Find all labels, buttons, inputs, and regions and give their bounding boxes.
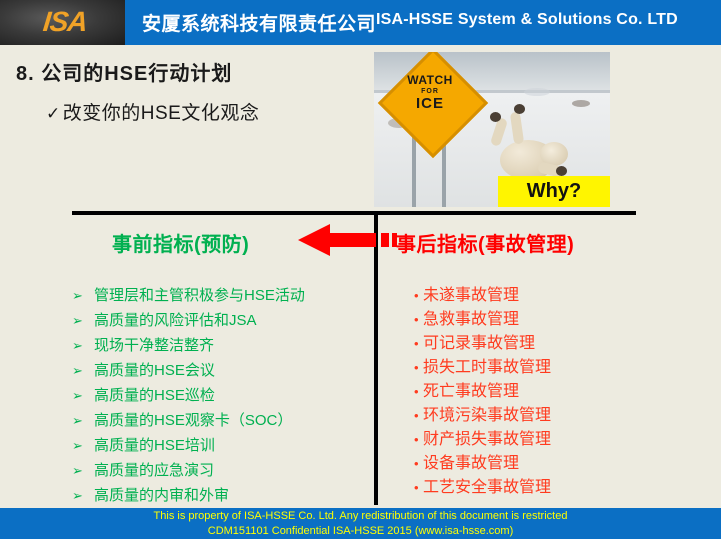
list-item: ➢高质量的HSE巡检 — [72, 385, 372, 406]
list-item: ➢高质量的HSE培训 — [72, 435, 372, 456]
arrow-bullet-icon: ➢ — [72, 335, 94, 356]
bear-paw — [556, 166, 567, 176]
list-item-label: 可记录事故管理 — [423, 333, 535, 355]
arrow-bullet-icon: ➢ — [72, 485, 94, 506]
slide-header-bar: ISA 安厦系统科技有限责任公司 ISA-HSSE System & Solut… — [0, 0, 721, 45]
bear-paw — [490, 112, 501, 122]
list-item: •可记录事故管理 — [414, 333, 694, 355]
arrow-tail-segment — [381, 233, 389, 247]
list-item: ➢高质量的应急演习 — [72, 460, 372, 481]
list-item-label: 损失工时事故管理 — [423, 357, 551, 379]
arrow-bullet-icon: ➢ — [72, 385, 94, 406]
arrow-shaft — [328, 233, 376, 247]
list-item: ➢管理层和主管积极参与HSE活动 — [72, 285, 372, 306]
dot-bullet-icon: • — [414, 429, 423, 451]
list-item-label: 设备事故管理 — [423, 453, 519, 475]
company-name-english: ISA-HSSE System & Solutions Co. LTD — [376, 11, 678, 29]
sign-line-watch: WATCH — [388, 74, 472, 86]
list-item: •急救事故管理 — [414, 309, 694, 331]
sign-label: WATCH FOR ICE — [388, 74, 472, 130]
list-item-label: 现场干净整洁整齐 — [94, 335, 214, 356]
arrow-tail-segment — [392, 233, 397, 247]
footer-copyright-line: This is property of ISA-HSSE Co. Ltd. An… — [0, 510, 721, 522]
list-item: ➢高质量的风险评估和JSA — [72, 310, 372, 331]
list-item-label: 环境污染事故管理 — [423, 405, 551, 427]
list-item-label: 高质量的内审和外审 — [94, 485, 229, 506]
slide-title: 8. 公司的HSE行动计划 — [16, 57, 232, 86]
polar-bear-figure — [482, 124, 568, 182]
dot-bullet-icon: • — [414, 405, 423, 427]
list-item-label: 高质量的风险评估和JSA — [94, 310, 257, 331]
list-item: •设备事故管理 — [414, 453, 694, 475]
list-item-label: 高质量的HSE会议 — [94, 360, 215, 381]
list-item: •损失工时事故管理 — [414, 357, 694, 379]
list-item-label: 死亡事故管理 — [423, 381, 519, 403]
snow-texture — [524, 88, 550, 96]
dot-bullet-icon: • — [414, 357, 423, 379]
dot-bullet-icon: • — [414, 381, 423, 403]
list-item-label: 高质量的HSE观察卡（SOC） — [94, 410, 292, 431]
company-name-chinese: 安厦系统科技有限责任公司 — [142, 9, 376, 36]
slide-canvas: ISA 安厦系统科技有限责任公司 ISA-HSSE System & Solut… — [0, 0, 721, 539]
list-item: •环境污染事故管理 — [414, 405, 694, 427]
polar-bear-ice-photo: WATCH FOR ICE Why? — [374, 52, 610, 207]
horizontal-divider — [72, 211, 636, 215]
arrow-head — [298, 224, 330, 256]
list-item-label: 管理层和主管积极参与HSE活动 — [94, 285, 305, 306]
list-item-label: 高质量的HSE巡检 — [94, 385, 215, 406]
snow-texture — [572, 100, 590, 107]
list-item-label: 急救事故管理 — [423, 309, 519, 331]
list-item: ➢高质量的HSE观察卡（SOC） — [72, 410, 372, 431]
dot-bullet-icon: • — [414, 477, 423, 499]
arrow-bullet-icon: ➢ — [72, 460, 94, 481]
footer-document-id-line: CDM151101 Confidential ISA-HSSE 2015 (ww… — [0, 525, 721, 537]
dot-bullet-icon: • — [414, 285, 423, 307]
dot-bullet-icon: • — [414, 309, 423, 331]
check-icon: ✓ — [46, 104, 61, 123]
list-item: ➢现场干净整洁整齐 — [72, 335, 372, 356]
arrow-bullet-icon: ➢ — [72, 410, 94, 431]
leading-indicators-heading: 事前指标(预防) — [112, 228, 249, 257]
arrow-bullet-icon: ➢ — [72, 360, 94, 381]
sign-line-ice: ICE — [388, 96, 472, 111]
list-item: •死亡事故管理 — [414, 381, 694, 403]
isa-logo-icon: ISA — [18, 7, 111, 37]
list-item-label: 财产损失事故管理 — [423, 429, 551, 451]
dot-bullet-icon: • — [414, 453, 423, 475]
list-item-label: 未遂事故管理 — [423, 285, 519, 307]
list-item: •财产损失事故管理 — [414, 429, 694, 451]
list-item: ➢高质量的HSE会议 — [72, 360, 372, 381]
bear-paw — [514, 104, 525, 114]
arrow-bullet-icon: ➢ — [72, 435, 94, 456]
sign-line-for: FOR — [388, 88, 472, 95]
list-item-label: 高质量的应急演习 — [94, 460, 214, 481]
list-item-label: 工艺安全事故管理 — [423, 477, 551, 499]
leading-indicators-list: ➢管理层和主管积极参与HSE活动 ➢高质量的风险评估和JSA ➢现场干净整洁整齐… — [72, 285, 372, 510]
list-item-label: 高质量的HSE培训 — [94, 435, 215, 456]
slide-subtitle: ✓改变你的HSE文化观念 — [46, 98, 259, 125]
arrow-bullet-icon: ➢ — [72, 310, 94, 331]
list-item: ➢高质量的内审和外审 — [72, 485, 372, 506]
dot-bullet-icon: • — [414, 333, 423, 355]
slide-subtitle-text: 改变你的HSE文化观念 — [63, 103, 260, 124]
list-item: •未遂事故管理 — [414, 285, 694, 307]
why-callout-text: Why? — [498, 178, 610, 205]
lagging-indicators-heading: 事后指标(事故管理) — [396, 228, 574, 257]
lagging-indicators-list: •未遂事故管理 •急救事故管理 •可记录事故管理 •损失工时事故管理 •死亡事故… — [414, 285, 694, 501]
arrow-bullet-icon: ➢ — [72, 285, 94, 306]
list-item: •工艺安全事故管理 — [414, 477, 694, 499]
left-pointing-arrow-icon — [298, 224, 376, 256]
